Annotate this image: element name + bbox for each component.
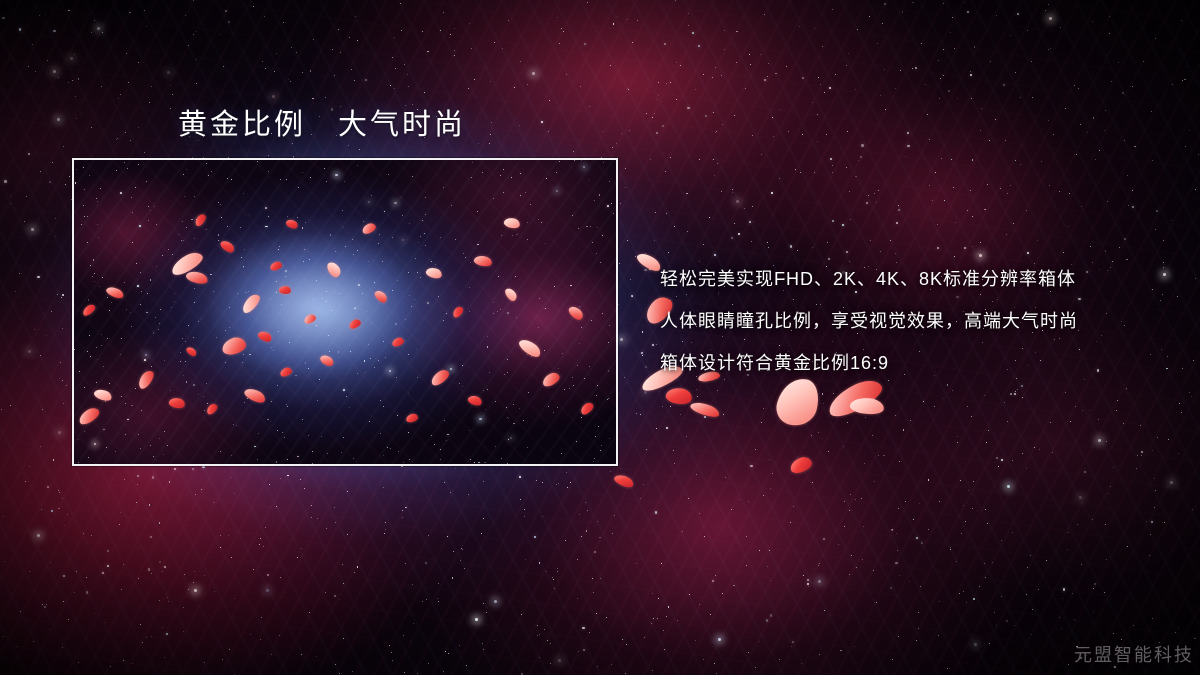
page-title: 黄金比例 大气时尚 [178,101,466,143]
watermark-label: 元盟智能科技 [1074,641,1194,667]
body-line: 人体眼睛瞳孔比例，享受视觉效果，高端大气时尚 [660,300,1180,342]
panel-nebula-filaments [74,160,616,464]
body-line: 箱体设计符合黄金比例16:9 [660,342,1180,384]
body-text-block: 轻松完美实现FHD、2K、4K、8K标准分辨率箱体 人体眼睛瞳孔比例，享受视觉效… [660,258,1180,384]
framed-image-panel [72,158,618,466]
slide-canvas: 黄金比例 大气时尚 轻松完美实现FHD、2K、4K、8K标准分辨率箱体 人体眼睛… [0,0,1200,675]
body-line: 轻松完美实现FHD、2K、4K、8K标准分辨率箱体 [660,258,1180,300]
